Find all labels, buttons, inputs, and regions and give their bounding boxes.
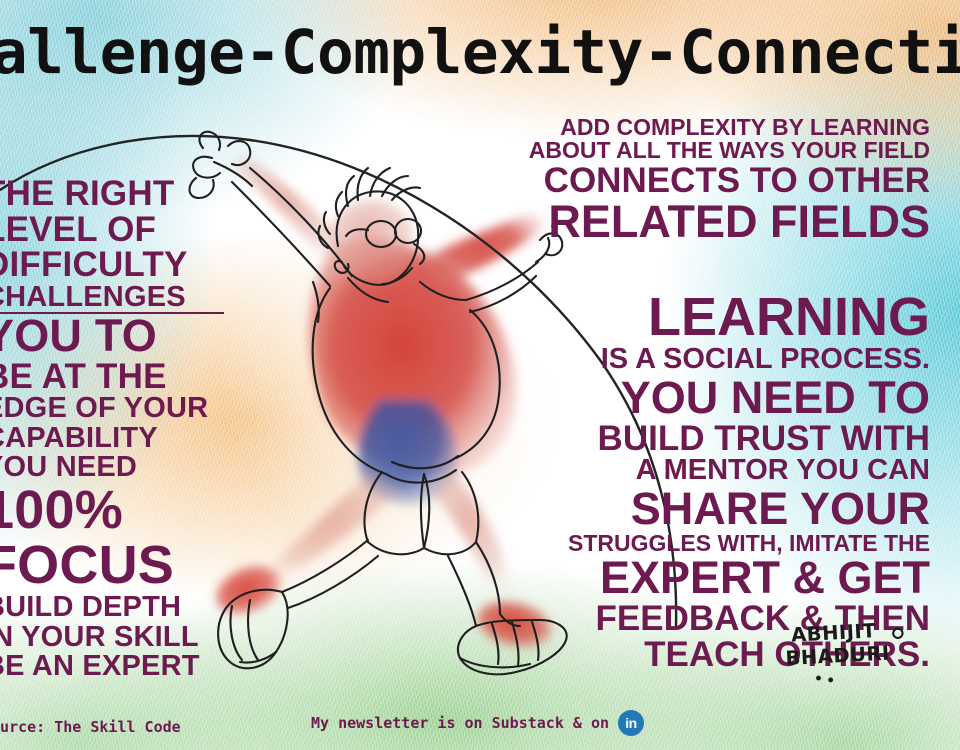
newsletter-note: My newsletter is on Substack & on in	[311, 710, 644, 736]
left-text-line-0: THE RIGHT	[0, 176, 208, 212]
left-text-line-7: CAPABILITY	[0, 424, 208, 454]
top-right-text-line-1: ABOUT ALL THE WAYS YOUR FIELD	[529, 139, 930, 162]
source-credit: Source: The Skill Code	[0, 718, 181, 736]
left-text-line-4: YOU TO	[0, 313, 208, 359]
bottom-right-text-line-3: BUILD TRUST WITH	[568, 421, 930, 457]
left-text-column: THE RIGHTLEVEL OFDIFFICULTYCHALLENGESYOU…	[0, 176, 208, 682]
left-text-line-9: 100%	[0, 483, 208, 538]
bottom-right-text-line-0: LEARNING	[568, 290, 930, 345]
bottom-right-text-line-1: IS A SOCIAL PROCESS.	[568, 345, 930, 375]
signature-line-2: BHADURI	[785, 642, 890, 670]
signature-circle-mark	[893, 629, 902, 638]
signature-dot-2	[828, 678, 833, 683]
challenges-underline	[0, 312, 224, 314]
left-text-line-5: BE AT THE	[0, 359, 208, 395]
bottom-right-text-line-7: EXPERT & GET	[568, 555, 930, 601]
page-title: Challenge-Complexity-Connection	[0, 22, 960, 83]
left-text-line-13: BE AN EXPERT	[0, 652, 208, 682]
bottom-right-text-line-4: A MENTOR YOU CAN	[568, 456, 930, 486]
bottom-right-text-line-2: YOU NEED TO	[568, 375, 930, 421]
signature-dot-1	[816, 676, 821, 681]
left-text-line-6: EDGE OF YOUR	[0, 394, 208, 424]
left-text-line-3: CHALLENGES	[0, 283, 208, 313]
left-text-line-1: LEVEL OF	[0, 212, 208, 248]
linkedin-icon[interactable]: in	[618, 710, 644, 736]
artist-signature: ABHIJIT BHADURI	[784, 616, 924, 686]
left-text-line-10: FOCUS	[0, 538, 208, 593]
left-text-line-8: YOU NEED	[0, 453, 208, 483]
left-text-line-2: DIFFICULTY	[0, 247, 208, 283]
top-right-text-line-3: RELATED FIELDS	[529, 199, 930, 245]
top-right-text-line-0: ADD COMPLEXITY BY LEARNING	[529, 116, 930, 139]
left-text-line-12: IN YOUR SKILL	[0, 623, 208, 653]
newsletter-text: My newsletter is on Substack & on	[311, 714, 609, 732]
top-right-text-line-2: CONNECTS TO OTHER	[529, 163, 930, 199]
bottom-right-text-line-5: SHARE YOUR	[568, 486, 930, 532]
top-right-text-column: ADD COMPLEXITY BY LEARNINGABOUT ALL THE …	[529, 116, 930, 244]
left-text-line-11: BUILD DEPTH	[0, 593, 208, 623]
infographic-poster: Challenge-Complexity-Connection THE RIGH…	[0, 0, 960, 750]
